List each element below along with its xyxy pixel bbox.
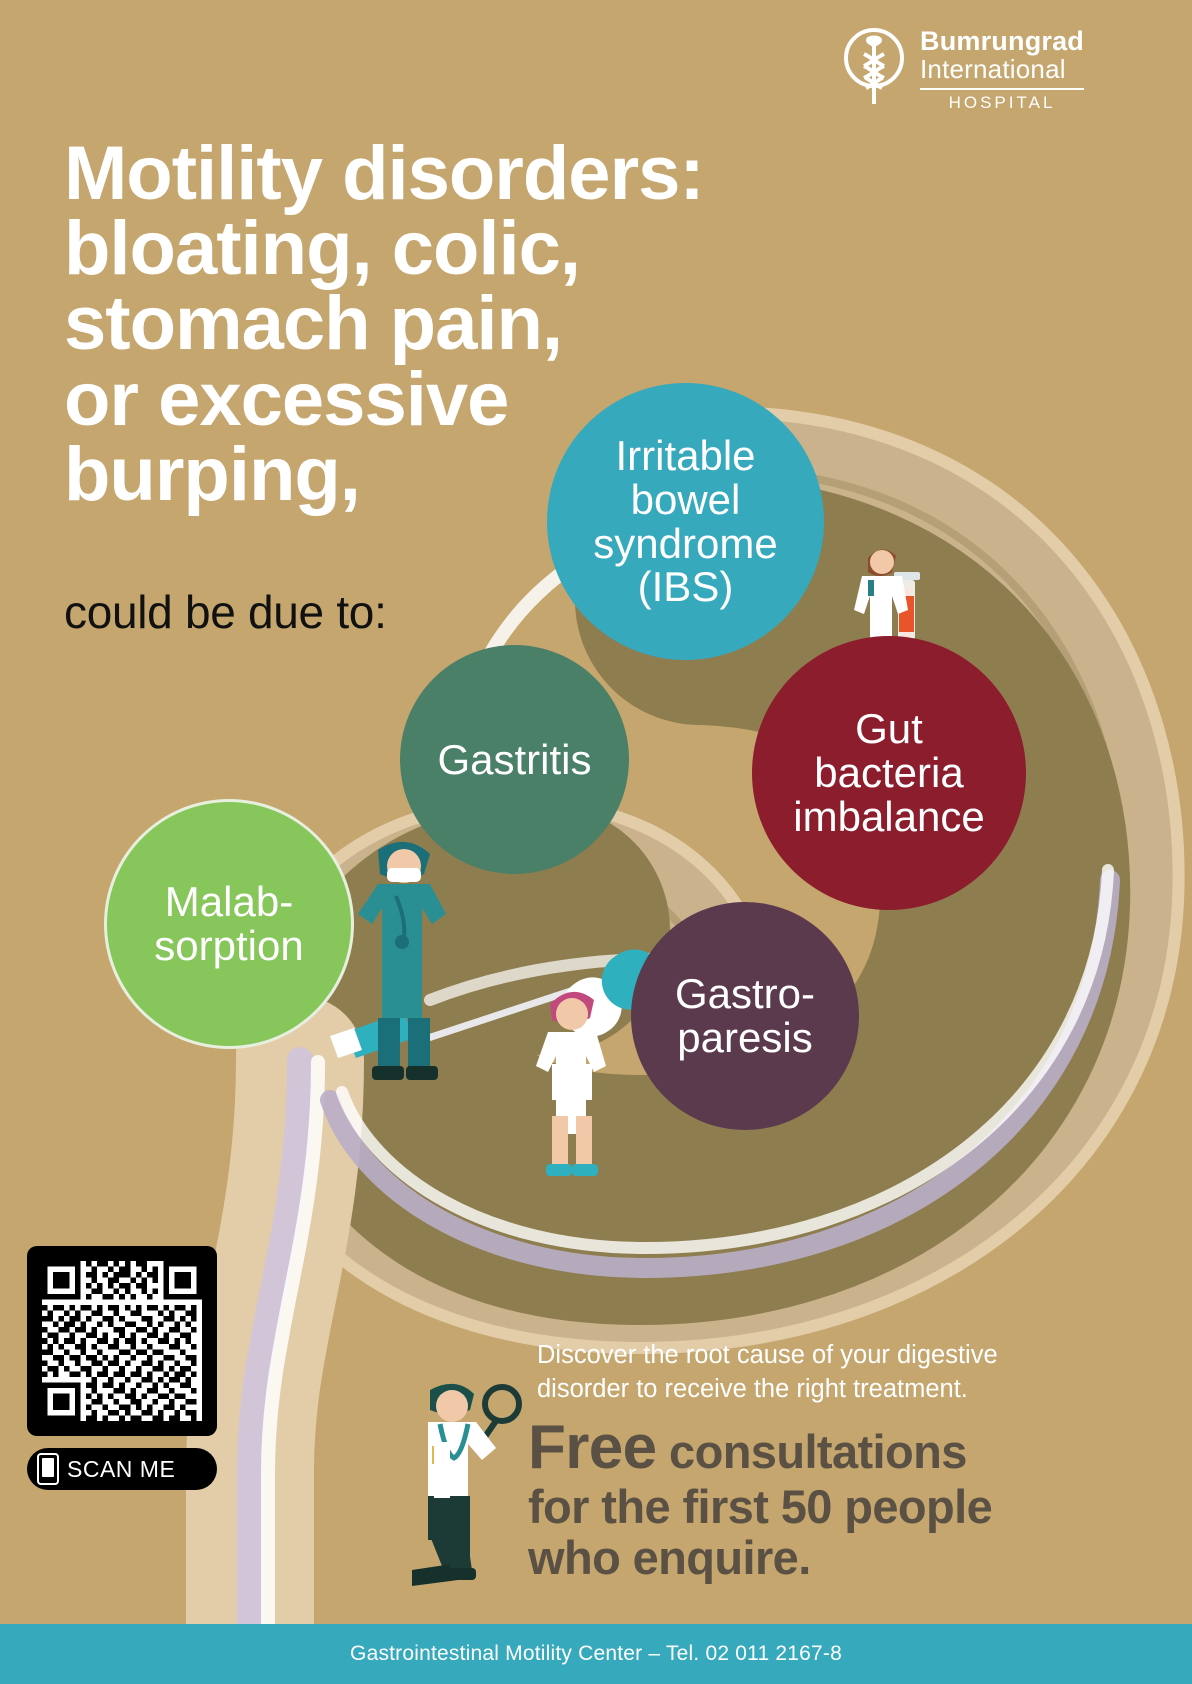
cta-offer: Free consultations for the first 50 peop… <box>528 1415 1058 1583</box>
page-subtitle: could be due to: <box>64 585 387 639</box>
cta-free-word: Free <box>528 1413 657 1482</box>
bubble-gut-line-1: Gut <box>793 707 984 751</box>
bubble-gut-line-3: imbalance <box>793 795 984 839</box>
headline-line-3: stomach pain, <box>64 286 824 361</box>
bubble-gastro-line-1: Gastro- <box>675 972 815 1016</box>
cta-offer-line-3: who enquire. <box>528 1533 1058 1584</box>
bubble-gastritis-label: Gastritis <box>427 738 601 782</box>
bubble-malab-line-1: Malab- <box>154 880 303 924</box>
brand-logo: Bumrungrad International HOSPITAL <box>842 28 1084 111</box>
scan-me-badge[interactable]: SCAN ME <box>27 1448 217 1490</box>
cta-consultations-word: consultations <box>669 1425 967 1478</box>
cta-lead-text: Discover the root cause of your digestiv… <box>537 1338 1057 1406</box>
logo-line-1: Bumrungrad <box>920 28 1084 55</box>
headline-line-2: bloating, colic, <box>64 211 824 286</box>
cta-offer-line-2: for the first 50 people <box>528 1482 1058 1533</box>
poster-canvas: Bumrungrad International HOSPITAL Motili… <box>0 0 1192 1684</box>
logo-line-3: HOSPITAL <box>920 94 1084 111</box>
bubble-ibs-line-1: Irritable <box>593 434 777 478</box>
bubble-gastritis: Gastritis <box>400 645 629 874</box>
qr-code-image <box>42 1261 202 1421</box>
footer-contact-text: Gastrointestinal Motility Center – Tel. … <box>350 1642 842 1666</box>
bubble-malabsorption: Malab- sorption <box>107 802 351 1046</box>
bubble-ibs-line-4: (IBS) <box>593 565 777 609</box>
bubble-gut-bacteria-imbalance: Gut bacteria imbalance <box>752 636 1026 910</box>
logo-line-2: International <box>920 56 1084 82</box>
bubble-ibs-line-2: bowel <box>593 478 777 522</box>
caduceus-icon <box>842 28 906 106</box>
bubble-irritable-bowel-syndrome: Irritable bowel syndrome (IBS) <box>547 383 824 660</box>
phone-icon <box>37 1453 59 1485</box>
logo-divider <box>920 88 1084 90</box>
bubble-ibs-line-3: syndrome <box>593 522 777 566</box>
bubble-gut-line-2: bacteria <box>793 751 984 795</box>
bubble-gastroparesis: Gastro- paresis <box>631 902 859 1130</box>
doctor-magnifier-illustration <box>412 1384 519 1586</box>
cta-lead-line-2: disorder to receive the right treatment. <box>537 1372 1057 1406</box>
bubble-malab-line-2: sorption <box>154 924 303 968</box>
cta-lead-line-1: Discover the root cause of your digestiv… <box>537 1338 1057 1372</box>
qr-code[interactable] <box>27 1246 217 1436</box>
scan-me-label: SCAN ME <box>67 1456 175 1483</box>
bubble-gastro-line-2: paresis <box>675 1016 815 1060</box>
footer-bar: Gastrointestinal Motility Center – Tel. … <box>0 1624 1192 1684</box>
headline-line-1: Motility disorders: <box>64 136 824 211</box>
